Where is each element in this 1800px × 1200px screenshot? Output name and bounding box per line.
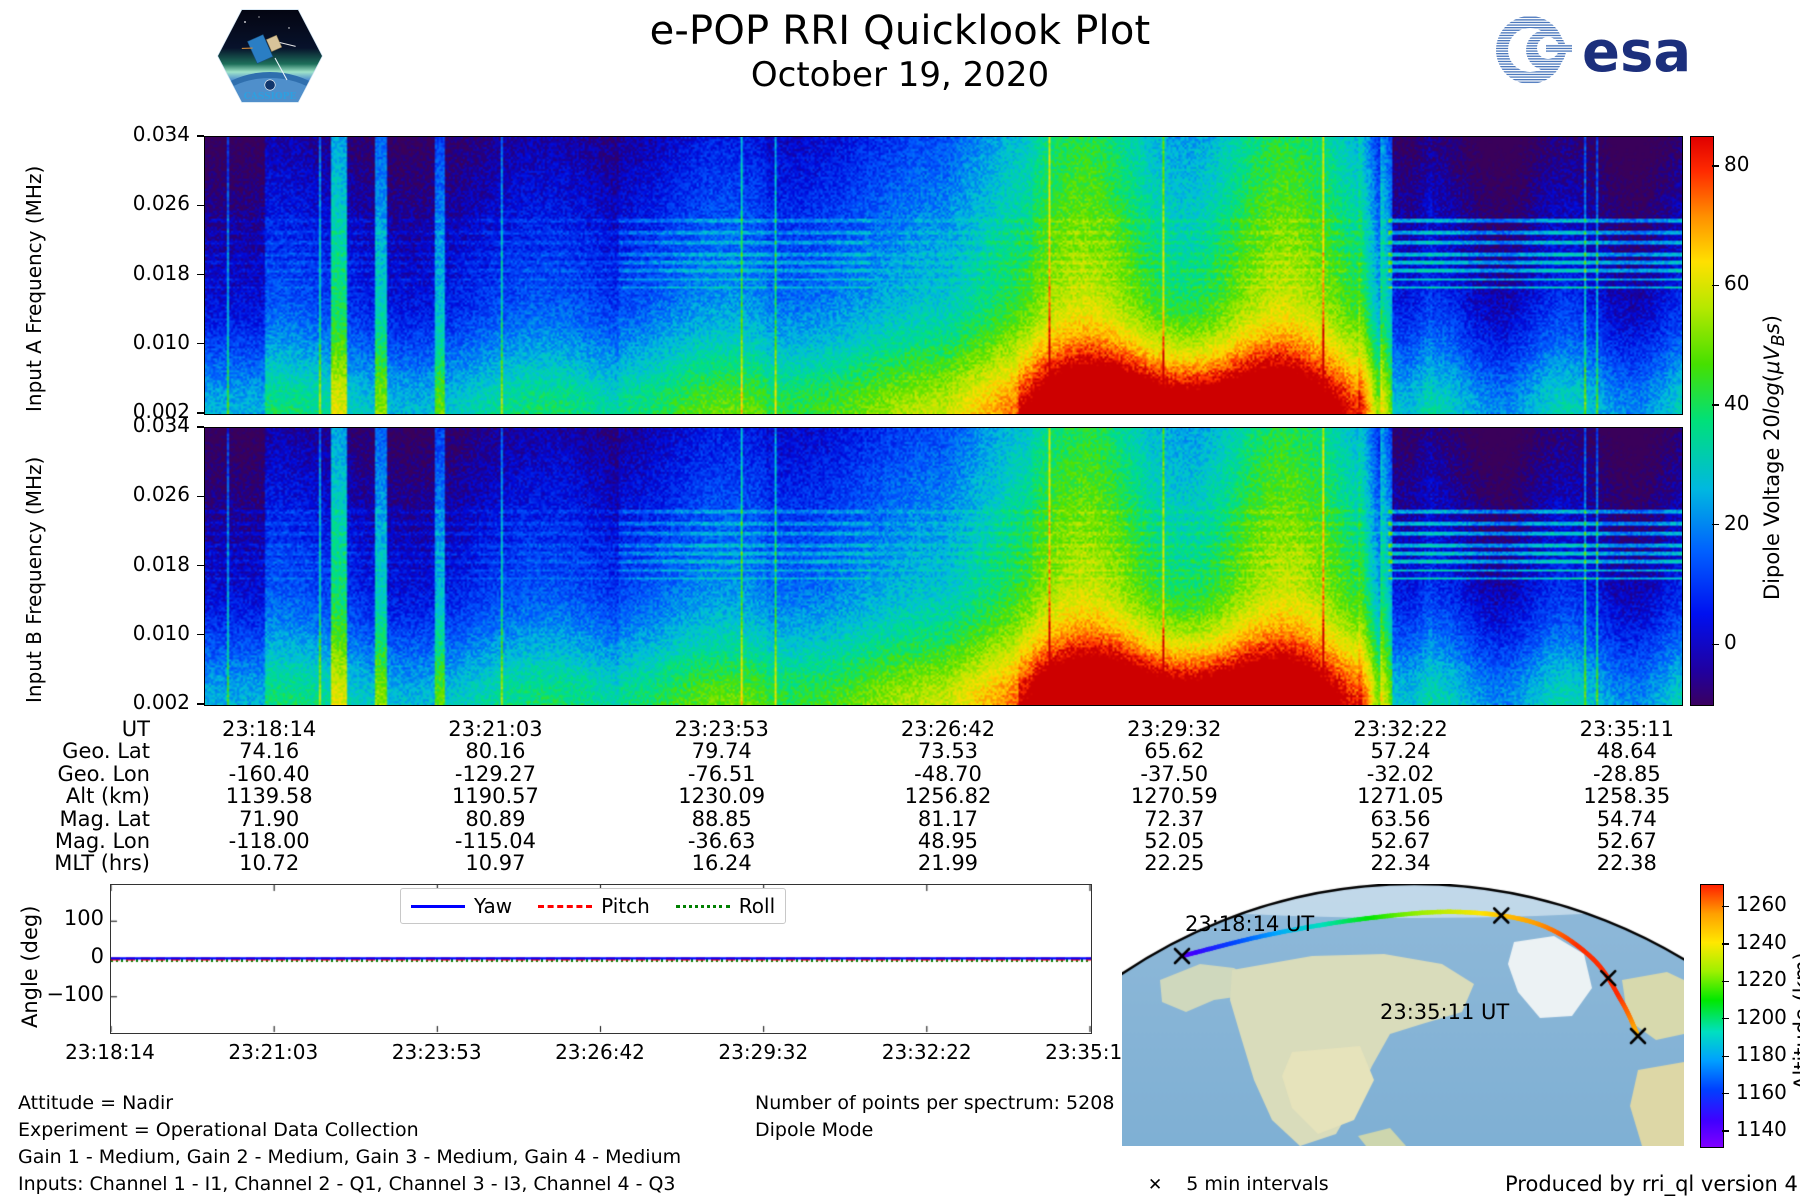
ephemeris-cell: 80.16 xyxy=(382,740,608,762)
ephemeris-row-label: Mag. Lon xyxy=(0,830,156,852)
y-tick-mark xyxy=(197,274,204,275)
input-a-spectrogram-canvas xyxy=(205,137,1682,414)
ephemeris-cell: 10.97 xyxy=(382,852,608,874)
ephemeris-cell: 21.99 xyxy=(835,852,1061,874)
legend-line-yaw xyxy=(411,905,465,908)
footer-left-block: Attitude = NadirExperiment = Operational… xyxy=(18,1090,681,1198)
dipole-colorbar-gradient xyxy=(1691,137,1713,705)
attitude-legend: YawPitchRoll xyxy=(400,888,786,924)
y-tick-label: 0.010 xyxy=(40,330,190,354)
ephemeris-cell: -160.40 xyxy=(156,763,382,785)
ephemeris-cell: 23:26:42 xyxy=(835,718,1061,740)
ephemeris-row-label: MLT (hrs) xyxy=(0,852,156,874)
altitude-tick-mark xyxy=(1722,906,1729,907)
attitude-x-tick-label: 23:23:53 xyxy=(367,1040,507,1064)
ephemeris-cell: 1271.05 xyxy=(1287,785,1513,807)
map-marker-legend: ✕ 5 min intervals xyxy=(1148,1173,1329,1195)
esa-logo-icon: esa xyxy=(1490,14,1720,86)
altitude-colorbar xyxy=(1700,884,1724,1148)
ephemeris-cell: -118.00 xyxy=(156,830,382,852)
ephemeris-cell: 72.37 xyxy=(1061,808,1287,830)
produced-by-text: Produced by rri_ql version 4 xyxy=(1505,1172,1798,1196)
attitude-x-tick-label: 23:32:22 xyxy=(857,1040,997,1064)
ephemeris-cell: 16.24 xyxy=(609,852,835,874)
y-tick-mark xyxy=(197,565,204,566)
ephemeris-row-label: UT xyxy=(0,718,156,740)
altitude-tick-mark xyxy=(1722,1130,1729,1131)
cassiope-logo-text: CASSIOPE xyxy=(244,92,297,102)
altitude-tick-mark xyxy=(1722,1056,1729,1057)
legend-label-pitch: Pitch xyxy=(601,894,650,918)
attitude-x-tick-label: 23:21:03 xyxy=(203,1040,343,1064)
altitude-tick-mark xyxy=(1722,1093,1729,1094)
y-tick-label: 0.034 xyxy=(40,413,190,437)
ephemeris-cell: 73.53 xyxy=(835,740,1061,762)
attitude-x-tick-label: 23:18:14 xyxy=(40,1040,180,1064)
footer-left-line-3: Inputs: Channel 1 - I1, Channel 2 - Q1, … xyxy=(18,1171,681,1198)
altitude-tick-label: 1180 xyxy=(1736,1042,1787,1066)
legend-item-roll: Roll xyxy=(676,894,775,918)
ephemeris-cell: 81.17 xyxy=(835,808,1061,830)
altitude-colorbar-label: Altitude (km) xyxy=(1790,952,1800,1090)
dipole-voltage-colorbar xyxy=(1690,136,1714,706)
altitude-tick-mark xyxy=(1722,1018,1729,1019)
altitude-tick-label: 1140 xyxy=(1736,1117,1787,1141)
ephemeris-cell: 23:23:53 xyxy=(609,718,835,740)
ephemeris-cell: 22.25 xyxy=(1061,852,1287,874)
colorbar-tick-label: 60 xyxy=(1724,271,1749,295)
ephemeris-cell: 1258.35 xyxy=(1514,785,1740,807)
ephemeris-cell: 22.38 xyxy=(1514,852,1740,874)
esa-logo-text: esa xyxy=(1582,20,1691,85)
ephemeris-cell: -37.50 xyxy=(1061,763,1287,785)
colorbar-tick-label: 20 xyxy=(1724,511,1749,535)
altitude-tick-label: 1160 xyxy=(1736,1080,1787,1104)
colorbar-tick-mark xyxy=(1712,165,1719,166)
table-row: Geo. Lat74.1680.1679.7473.5365.6257.2448… xyxy=(0,740,1740,762)
colorbar-tick-mark xyxy=(1712,644,1719,645)
ephemeris-cell: 23:21:03 xyxy=(382,718,608,740)
ephemeris-cell: -36.63 xyxy=(609,830,835,852)
attitude-x-tick-label: 23:29:32 xyxy=(693,1040,833,1064)
ephemeris-cell: 79.74 xyxy=(609,740,835,762)
ephemeris-cell: 48.64 xyxy=(1514,740,1740,762)
legend-line-roll xyxy=(676,905,730,908)
map-start-time-label: 23:18:14 UT xyxy=(1185,912,1314,936)
ephemeris-cell: -129.27 xyxy=(382,763,608,785)
y-tick-mark xyxy=(197,343,204,344)
attitude-y-tick-label: 0 xyxy=(12,944,104,968)
altitude-tick-label: 1260 xyxy=(1736,892,1787,916)
y-tick-mark xyxy=(197,426,204,427)
legend-item-yaw: Yaw xyxy=(411,894,512,918)
ephemeris-cell: 23:35:11 xyxy=(1514,718,1740,740)
ephemeris-row-label: Alt (km) xyxy=(0,785,156,807)
y-tick-label: 0.018 xyxy=(40,261,190,285)
ephemeris-cell: -115.04 xyxy=(382,830,608,852)
input-a-spectrogram[interactable] xyxy=(204,136,1683,415)
y-tick-mark xyxy=(197,703,204,704)
cross-marker-icon: ✕ xyxy=(1148,1175,1162,1195)
y-tick-mark xyxy=(197,412,204,413)
table-row: UT23:18:1423:21:0323:23:5323:26:4223:29:… xyxy=(0,718,1740,740)
ephemeris-cell: 48.95 xyxy=(835,830,1061,852)
ephemeris-cell: 63.56 xyxy=(1287,808,1513,830)
ephemeris-cell: 23:32:22 xyxy=(1287,718,1513,740)
altitude-colorbar-gradient xyxy=(1701,885,1723,1147)
ephemeris-cell: -32.02 xyxy=(1287,763,1513,785)
ephemeris-cell: 1230.09 xyxy=(609,785,835,807)
y-tick-mark xyxy=(197,634,204,635)
colorbar-tick-label: 0 xyxy=(1724,630,1737,654)
footer-left-line-1: Experiment = Operational Data Collection xyxy=(18,1117,681,1144)
ephemeris-cell: 1190.57 xyxy=(382,785,608,807)
y-tick-mark xyxy=(197,205,204,206)
y-tick-mark xyxy=(197,135,204,136)
footer-middle-line-0: Number of points per spectrum: 5208 xyxy=(755,1090,1114,1117)
attitude-y-tick-label: 100 xyxy=(12,906,104,930)
table-row: MLT (hrs)10.7210.9716.2421.9922.2522.342… xyxy=(0,852,1740,874)
input-b-spectrogram[interactable] xyxy=(204,427,1683,706)
footer-left-line-0: Attitude = Nadir xyxy=(18,1090,681,1117)
legend-label-yaw: Yaw xyxy=(474,894,512,918)
y-tick-mark xyxy=(197,496,204,497)
colorbar-tick-label: 40 xyxy=(1724,391,1749,415)
footer-middle-block: Number of points per spectrum: 5208Dipol… xyxy=(755,1090,1114,1144)
ephemeris-cell: 52.67 xyxy=(1287,830,1513,852)
ephemeris-cell: 52.67 xyxy=(1514,830,1740,852)
colorbar-tick-mark xyxy=(1712,404,1719,405)
ephemeris-row-label: Geo. Lon xyxy=(0,763,156,785)
y-tick-label: 0.026 xyxy=(40,191,190,215)
table-row: Geo. Lon-160.40-129.27-76.51-48.70-37.50… xyxy=(0,763,1740,785)
footer-left-line-2: Gain 1 - Medium, Gain 2 - Medium, Gain 3… xyxy=(18,1144,681,1171)
legend-label-roll: Roll xyxy=(739,894,775,918)
ephemeris-cell: 74.16 xyxy=(156,740,382,762)
ephemeris-cell: 1256.82 xyxy=(835,785,1061,807)
colorbar-tick-mark xyxy=(1712,524,1719,525)
ephemeris-cell: 10.72 xyxy=(156,852,382,874)
legend-line-pitch xyxy=(538,905,592,908)
y-tick-label: 0.002 xyxy=(40,690,190,714)
ephemeris-cell: 23:29:32 xyxy=(1061,718,1287,740)
ephemeris-cell: 22.34 xyxy=(1287,852,1513,874)
altitude-tick-mark xyxy=(1722,943,1729,944)
colorbar-tick-mark xyxy=(1712,285,1719,286)
footer-middle-line-1: Dipole Mode xyxy=(755,1117,1114,1144)
ephemeris-row-label: Mag. Lat xyxy=(0,808,156,830)
ephemeris-table: UT23:18:1423:21:0323:23:5323:26:4223:29:… xyxy=(0,718,1740,875)
ephemeris-row-label: Geo. Lat xyxy=(0,740,156,762)
ephemeris-cell: 80.89 xyxy=(382,808,608,830)
ephemeris-cell: 52.05 xyxy=(1061,830,1287,852)
map-marker-legend-text: 5 min intervals xyxy=(1186,1173,1328,1195)
attitude-y-tick-label: −100 xyxy=(12,982,104,1006)
y-tick-label: 0.018 xyxy=(40,552,190,576)
attitude-x-tick-label: 23:26:42 xyxy=(530,1040,670,1064)
ephemeris-cell: 65.62 xyxy=(1061,740,1287,762)
ephemeris-cell: 57.24 xyxy=(1287,740,1513,762)
table-row: Mag. Lon-118.00-115.04-36.6348.9552.0552… xyxy=(0,830,1740,852)
ephemeris-cell: -48.70 xyxy=(835,763,1061,785)
y-tick-label: 0.026 xyxy=(40,482,190,506)
ephemeris-cell: 1270.59 xyxy=(1061,785,1287,807)
altitude-tick-label: 1200 xyxy=(1736,1005,1787,1029)
table-row: Alt (km)1139.581190.571230.091256.821270… xyxy=(0,785,1740,807)
y-tick-label: 0.034 xyxy=(40,122,190,146)
input-b-spectrogram-canvas xyxy=(205,428,1682,705)
altitude-tick-mark xyxy=(1722,981,1729,982)
ephemeris-cell: 23:18:14 xyxy=(156,718,382,740)
ephemeris-cell: -76.51 xyxy=(609,763,835,785)
ephemeris-cell: 54.74 xyxy=(1514,808,1740,830)
ephemeris-cell: 88.85 xyxy=(609,808,835,830)
ephemeris-cell: 1139.58 xyxy=(156,785,382,807)
y-tick-label: 0.010 xyxy=(40,621,190,645)
altitude-tick-label: 1240 xyxy=(1736,930,1787,954)
map-end-time-label: 23:35:11 UT xyxy=(1380,1000,1509,1024)
cassiope-logo-icon: CASSIOPE xyxy=(215,6,325,106)
altitude-tick-label: 1220 xyxy=(1736,967,1787,991)
ephemeris-cell: -28.85 xyxy=(1514,763,1740,785)
dipole-colorbar-label: Dipole Voltage 20log(μVBs) xyxy=(1760,315,1789,600)
table-row: Mag. Lat71.9080.8988.8581.1772.3763.5654… xyxy=(0,808,1740,830)
legend-item-pitch: Pitch xyxy=(538,894,650,918)
colorbar-tick-label: 80 xyxy=(1724,152,1749,176)
ephemeris-cell: 71.90 xyxy=(156,808,382,830)
